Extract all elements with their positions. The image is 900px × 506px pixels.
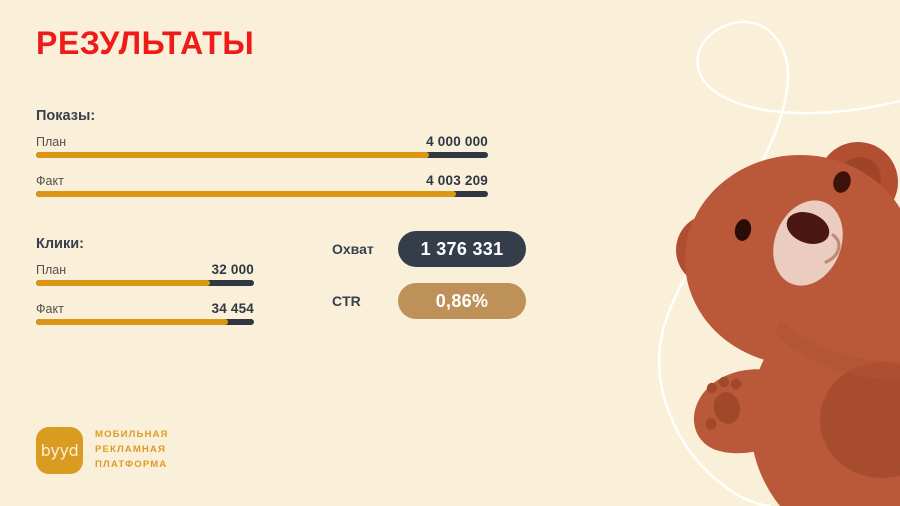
kpi-reach: Охват 1 376 331 xyxy=(332,231,526,267)
bar-head: План 32 000 xyxy=(36,262,254,277)
byyd-tagline-line3: ПЛАТФОРМА xyxy=(95,458,169,473)
bar-row: Факт 34 454 xyxy=(36,301,254,325)
kpi-ctr-label: CTR xyxy=(332,293,398,309)
bar-fill xyxy=(36,319,228,325)
bear-illustration xyxy=(620,120,900,506)
impressions-heading: Показы: xyxy=(36,108,95,124)
byyd-tagline: МОБИЛЬНАЯ РЕКЛАМНАЯ ПЛАТФОРМА xyxy=(95,428,169,473)
bar-track xyxy=(36,280,254,286)
kpi-reach-label: Охват xyxy=(332,241,398,257)
bar-label: Факт xyxy=(36,302,64,316)
bar-label: План xyxy=(36,135,66,149)
bar-value: 4 003 209 xyxy=(426,173,488,188)
bar-track xyxy=(36,191,488,197)
bar-value: 34 454 xyxy=(212,301,255,316)
byyd-logo-mark-icon: byyd xyxy=(36,427,83,474)
byyd-logo: byyd МОБИЛЬНАЯ РЕКЛАМНАЯ ПЛАТФОРМА xyxy=(36,427,169,474)
byyd-wordmark: byyd xyxy=(41,441,79,460)
impressions-bars: План 4 000 000 Факт 4 003 209 xyxy=(36,134,488,197)
clicks-heading: Клики: xyxy=(36,236,84,252)
bar-fill xyxy=(36,191,456,197)
kpi-ctr-value: 0,86% xyxy=(398,283,526,319)
bar-value: 4 000 000 xyxy=(426,134,488,149)
byyd-tagline-line2: РЕКЛАМНАЯ xyxy=(95,443,169,458)
results-slide: РЕЗУЛЬТАТЫ Показы: План 4 000 000 Факт 4… xyxy=(0,0,900,506)
bar-value: 32 000 xyxy=(212,262,255,277)
bar-track xyxy=(36,152,488,158)
kpi-ctr: CTR 0,86% xyxy=(332,283,526,319)
bar-label: План xyxy=(36,263,66,277)
byyd-tagline-line1: МОБИЛЬНАЯ xyxy=(95,428,169,443)
kpi-reach-value: 1 376 331 xyxy=(398,231,526,267)
bar-head: Факт 4 003 209 xyxy=(36,173,488,188)
bar-row: План 32 000 xyxy=(36,262,254,286)
bar-row: Факт 4 003 209 xyxy=(36,173,488,197)
bar-label: Факт xyxy=(36,174,64,188)
bar-head: Факт 34 454 xyxy=(36,301,254,316)
page-title: РЕЗУЛЬТАТЫ xyxy=(36,24,254,62)
bar-row: План 4 000 000 xyxy=(36,134,488,158)
bar-track xyxy=(36,319,254,325)
bar-fill xyxy=(36,152,429,158)
bar-fill xyxy=(36,280,210,286)
clicks-bars: План 32 000 Факт 34 454 xyxy=(36,262,254,325)
bar-head: План 4 000 000 xyxy=(36,134,488,149)
